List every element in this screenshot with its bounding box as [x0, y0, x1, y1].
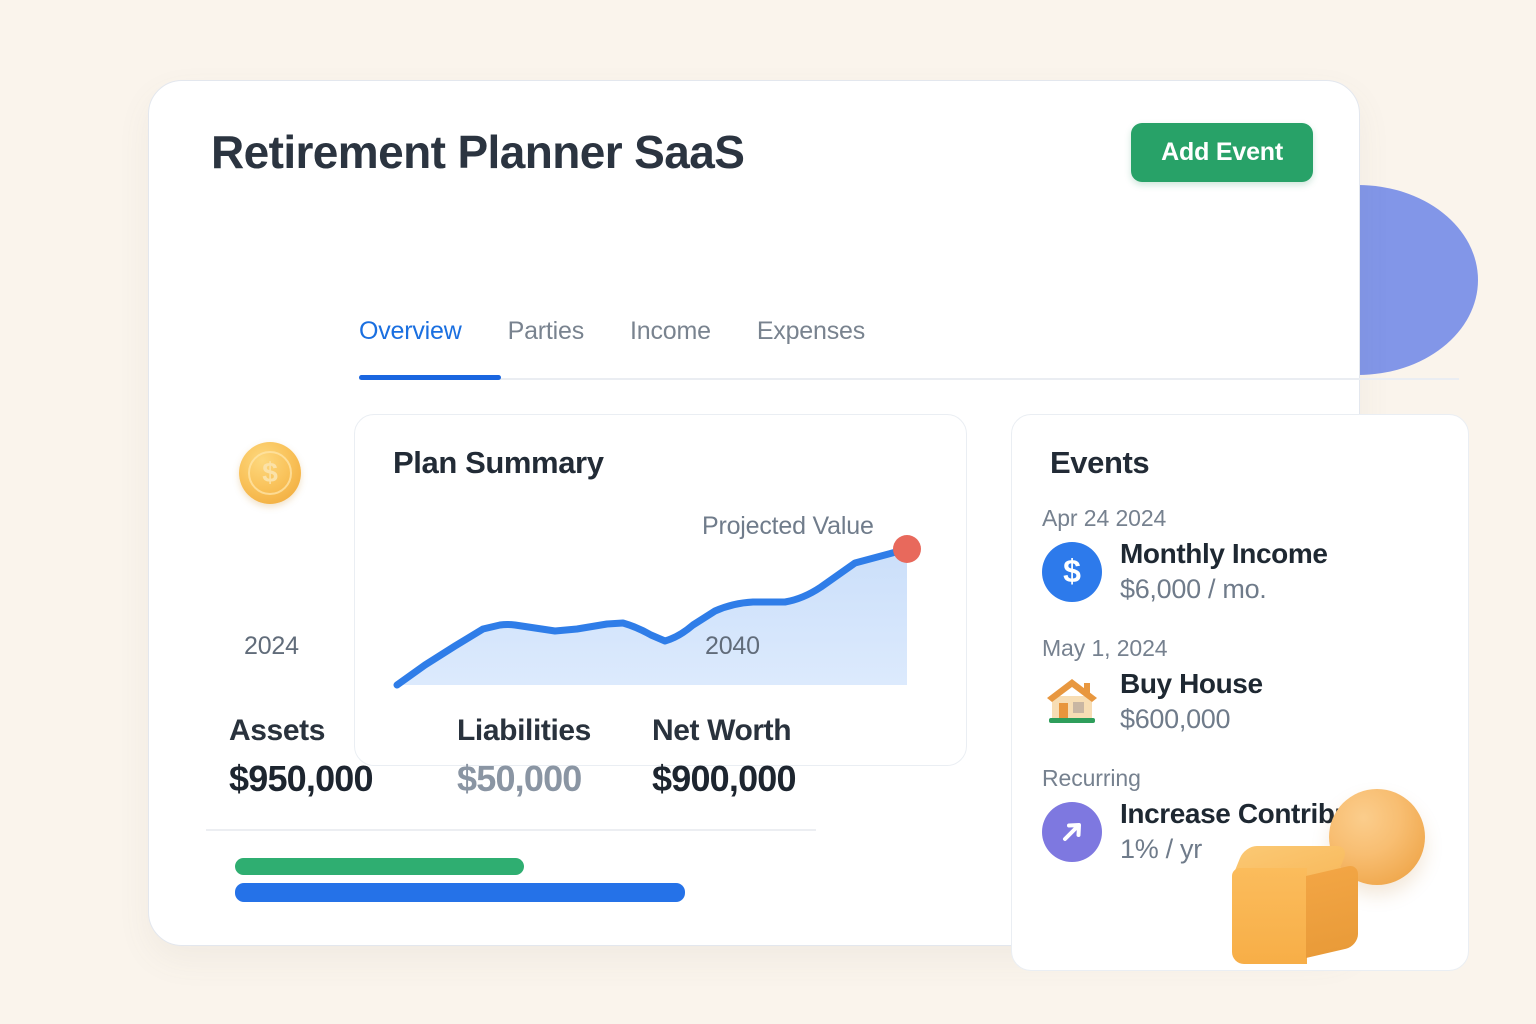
tab-parties[interactable]: Parties	[508, 317, 584, 346]
app-window: Retirement Planner SaaS Add Event Overvi…	[148, 80, 1360, 946]
summary-divider	[206, 829, 816, 831]
event-amount: $600,000	[1120, 704, 1263, 735]
stat-net-worth: Net Worth $900,000	[652, 714, 852, 800]
dollar-coin-icon: $	[239, 442, 301, 504]
chart-x-start-label: 2024	[244, 632, 299, 661]
stat-net-worth-value: $900,000	[652, 758, 852, 800]
decorative-semicircle	[1358, 185, 1478, 375]
events-title: Events	[1050, 445, 1149, 481]
cube-right-face	[1306, 864, 1358, 958]
tab-bar-divider	[359, 378, 1459, 380]
tab-expenses[interactable]: Expenses	[757, 317, 865, 346]
event-amount: $6,000 / mo.	[1120, 574, 1328, 605]
event-date: Recurring	[1042, 765, 1462, 792]
projected-value-chart[interactable]	[355, 507, 968, 707]
chart-endpoint-marker	[893, 535, 921, 563]
coin-dollar-glyph: $	[248, 451, 292, 495]
stat-liabilities: Liabilities $50,000	[457, 714, 652, 800]
tab-income[interactable]: Income	[630, 317, 711, 346]
stat-liabilities-value: $50,000	[457, 758, 652, 800]
stat-liabilities-label: Liabilities	[457, 714, 652, 748]
event-item-buy-house[interactable]: May 1, 2024 Buy House	[1042, 635, 1462, 735]
tab-overview[interactable]: Overview	[359, 317, 462, 346]
event-date: May 1, 2024	[1042, 635, 1462, 662]
arrow-up-right-circle-icon	[1042, 802, 1102, 862]
add-event-button[interactable]: Add Event	[1131, 123, 1313, 182]
dollar-circle-icon: $	[1042, 542, 1102, 602]
event-item-monthly-income[interactable]: Apr 24 2024 $ Monthly Income $6,000 / mo…	[1042, 505, 1462, 605]
tab-bar: Overview Parties Income Expenses	[359, 317, 865, 346]
plan-summary-title: Plan Summary	[393, 445, 604, 481]
tab-active-indicator	[359, 375, 501, 380]
stat-assets-label: Assets	[229, 714, 457, 748]
stats-row: Assets $950,000 Liabilities $50,000 Net …	[229, 714, 852, 800]
header: Retirement Planner SaaS Add Event	[211, 123, 1313, 182]
stat-assets-value: $950,000	[229, 758, 457, 800]
chart-svg	[355, 507, 968, 707]
chart-x-end-label: 2040	[705, 632, 760, 661]
assets-progress-bar	[235, 858, 524, 875]
cube-left-face	[1232, 868, 1307, 964]
event-date: Apr 24 2024	[1042, 505, 1462, 532]
net-worth-progress-bar	[235, 883, 685, 902]
chart-area-fill	[397, 549, 907, 685]
stat-net-worth-label: Net Worth	[652, 714, 852, 748]
dollar-glyph: $	[1063, 553, 1081, 590]
house-icon	[1042, 672, 1102, 732]
arrow-up-right-icon-svg	[1057, 817, 1087, 847]
house-icon-svg	[1043, 676, 1101, 728]
event-name: Buy House	[1120, 668, 1263, 700]
page-title: Retirement Planner SaaS	[211, 127, 744, 178]
decorative-cube	[1232, 846, 1360, 968]
stat-assets: Assets $950,000	[229, 714, 457, 800]
event-name: Monthly Income	[1120, 538, 1328, 570]
chart-legend-label: Projected Value	[702, 512, 874, 541]
